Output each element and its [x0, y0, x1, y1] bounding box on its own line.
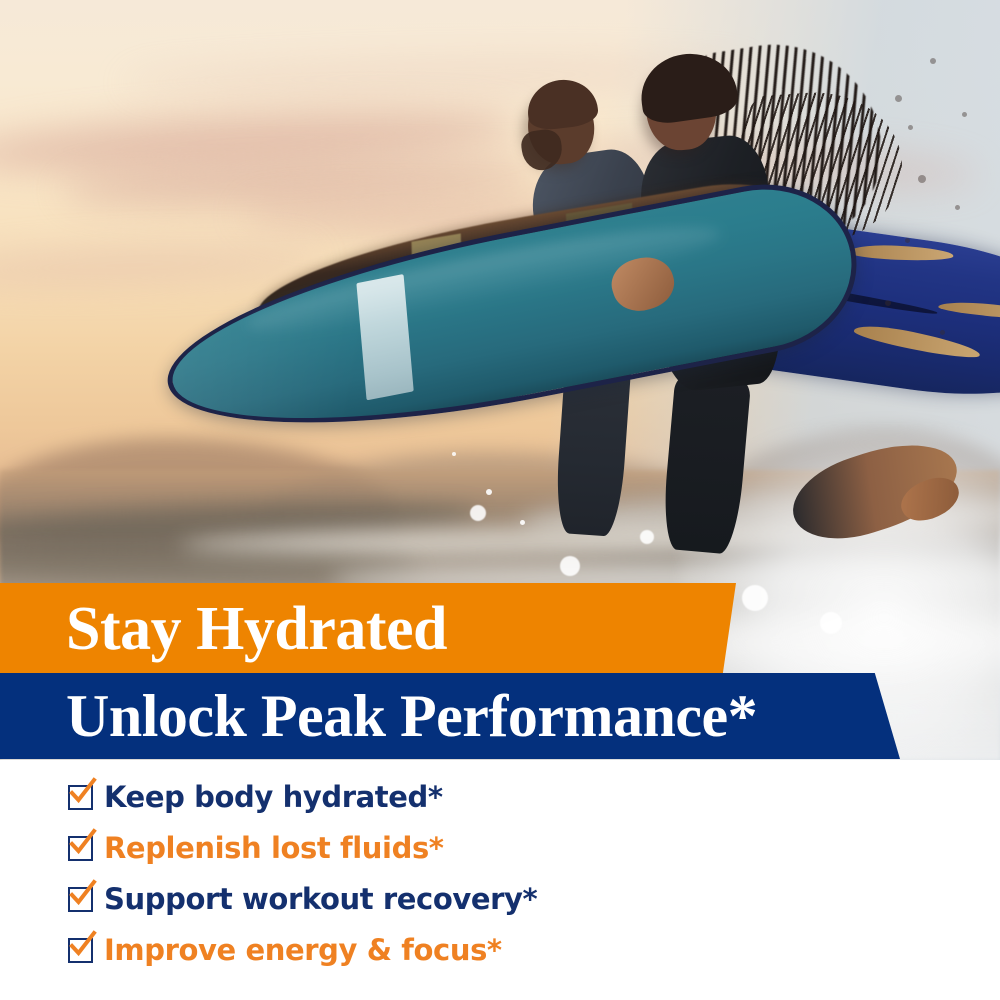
headline-band-secondary: Unlock Peak Performance*: [0, 673, 900, 759]
water-droplet: [452, 452, 456, 456]
headline-line-1: Stay Hydrated: [66, 598, 447, 660]
list-item: Replenish lost fluids*: [68, 823, 1000, 873]
water-droplet: [486, 489, 492, 495]
list-item: Support workout recovery*: [68, 874, 1000, 924]
water-droplet: [885, 300, 891, 306]
surfboard-fin: [938, 300, 1000, 322]
benefit-label: Keep body hydrated*: [104, 783, 443, 812]
water-splash: [560, 556, 580, 576]
water-droplet: [908, 125, 913, 130]
water-droplet: [520, 520, 525, 525]
water-droplet: [918, 175, 926, 183]
surfboard-fin: [853, 321, 982, 362]
water-splash: [470, 505, 486, 521]
water-splash: [742, 585, 768, 611]
list-item: Keep body hydrated*: [68, 772, 1000, 822]
water-droplet: [940, 330, 945, 335]
water-droplet: [955, 205, 960, 210]
water-droplet: [895, 95, 902, 102]
water-droplet: [962, 112, 967, 117]
checkbox-checked-icon: [68, 836, 93, 861]
benefit-label: Support workout recovery*: [104, 885, 537, 914]
marketing-banner: Stay Hydrated Unlock Peak Performance* K…: [0, 0, 1000, 1000]
benefit-label: Improve energy & focus*: [104, 936, 502, 965]
checkbox-checked-icon: [68, 785, 93, 810]
headline-band-primary: Stay Hydrated: [0, 583, 736, 674]
water-splash: [820, 612, 842, 634]
checkbox-checked-icon: [68, 887, 93, 912]
water-droplet: [930, 58, 936, 64]
water-droplet: [905, 238, 910, 243]
surfboard-fin: [849, 244, 953, 261]
headline-line-2: Unlock Peak Performance*: [66, 686, 757, 746]
list-item: Improve energy & focus*: [68, 925, 1000, 975]
water-splash: [640, 530, 654, 544]
benefits-list: Keep body hydrated* Replenish lost fluid…: [0, 772, 1000, 976]
checkbox-checked-icon: [68, 938, 93, 963]
benefit-label: Replenish lost fluids*: [104, 834, 444, 863]
